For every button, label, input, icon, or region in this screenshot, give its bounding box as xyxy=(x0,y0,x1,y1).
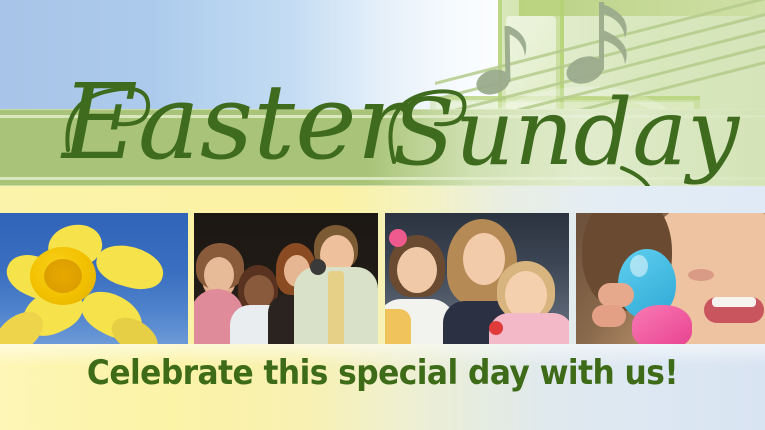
photo-strip xyxy=(0,213,765,344)
easter-egg-image xyxy=(576,213,765,344)
photo-daffodil xyxy=(0,213,188,344)
yellow-banner-band xyxy=(0,186,765,215)
page-title: Easter Sunday xyxy=(62,52,722,192)
headline-word-easter: Easter xyxy=(60,61,412,183)
headline-word-sunday: Sunday xyxy=(392,79,740,186)
photo-girls xyxy=(385,213,569,344)
choir-image xyxy=(194,213,378,344)
easter-sunday-banner: Easter Sunday xyxy=(0,0,765,430)
photo-easter-egg xyxy=(576,213,765,344)
tagline-text: Celebrate this special day with us! xyxy=(31,353,735,393)
daffodil-image xyxy=(0,213,188,344)
photo-choir xyxy=(194,213,378,344)
girls-image xyxy=(385,213,569,344)
